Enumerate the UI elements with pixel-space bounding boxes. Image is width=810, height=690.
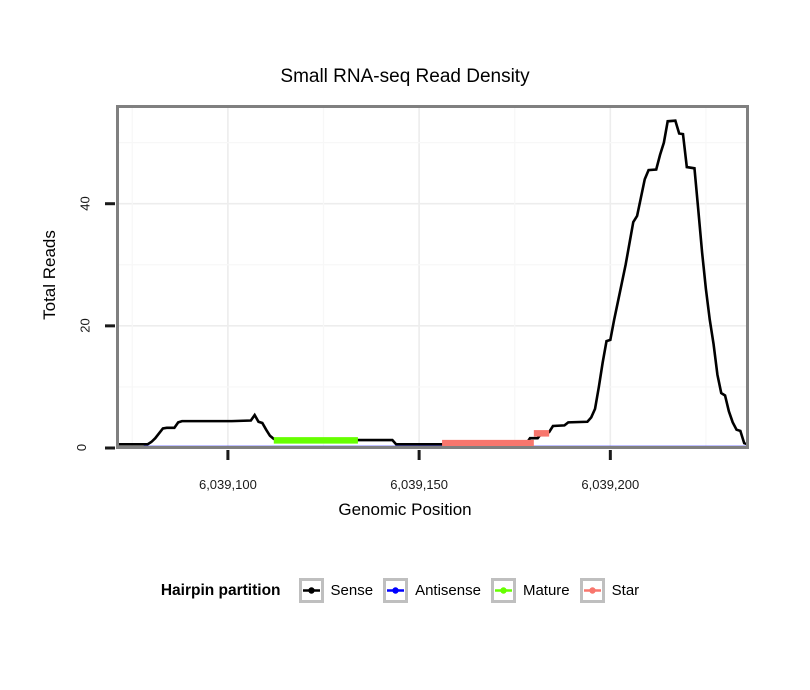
line-point-icon: [494, 581, 513, 600]
y-tick-label: 40: [78, 196, 93, 210]
legend-items: SenseAntisenseMatureStar: [299, 578, 650, 603]
legend-key-swatch: [580, 578, 605, 603]
x-tick-label: 6,039,100: [199, 477, 257, 492]
chart-container: Small RNA-seq Read Density Total Reads G…: [0, 0, 810, 690]
chart-legend: Hairpin partition SenseAntisenseMatureSt…: [0, 578, 810, 603]
legend-key-swatch: [299, 578, 324, 603]
legend-label: Antisense: [415, 582, 481, 599]
legend-item-antisense[interactable]: Antisense: [383, 578, 481, 603]
y-tick-label: 20: [78, 318, 93, 332]
y-tick-label-wrap: 20: [78, 317, 108, 335]
panel-background: [117, 106, 748, 448]
line-point-icon: [302, 581, 321, 600]
legend-label: Sense: [331, 582, 374, 599]
legend-label: Star: [612, 582, 640, 599]
legend-label: Mature: [523, 582, 570, 599]
y-tick-label-wrap: 0: [78, 439, 108, 457]
x-tick-label: 6,039,200: [581, 477, 639, 492]
y-tick-label-wrap: 40: [78, 195, 108, 213]
legend-key-swatch: [383, 578, 408, 603]
legend-item-sense[interactable]: Sense: [299, 578, 374, 603]
legend-item-star[interactable]: Star: [580, 578, 640, 603]
line-point-icon: [583, 581, 602, 600]
legend-key-swatch: [491, 578, 516, 603]
y-tick-label: 0: [74, 444, 89, 451]
legend-title: Hairpin partition: [161, 582, 281, 600]
line-point-icon: [386, 581, 405, 600]
legend-item-mature[interactable]: Mature: [491, 578, 570, 603]
x-tick-label: 6,039,150: [390, 477, 448, 492]
